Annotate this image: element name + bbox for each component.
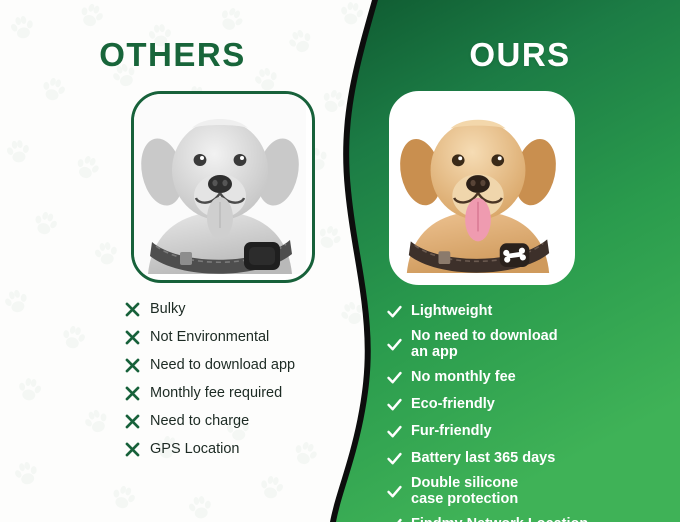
ours-dog-photo xyxy=(389,91,575,285)
list-item: No need to download an app xyxy=(386,326,646,362)
list-item-label: GPS Location xyxy=(150,441,239,458)
list-item-label: Double silicone case protection xyxy=(411,475,518,507)
list-item: Double silicone case protection xyxy=(386,473,646,509)
page-title-ours: OURS xyxy=(360,36,680,74)
check-icon xyxy=(386,450,403,467)
check-icon xyxy=(386,369,403,386)
color-golden-retriever-illustration xyxy=(393,95,563,273)
check-icon xyxy=(386,483,403,500)
comparison-infographic: OTHERS OURS xyxy=(0,0,695,522)
check-icon xyxy=(386,336,403,353)
list-item: Fur-friendly xyxy=(386,419,646,443)
list-item: Lightweight xyxy=(386,299,646,323)
others-feature-list: Bulky Not Environmental Need to download… xyxy=(124,296,349,464)
list-item-label: Need to download app xyxy=(150,357,295,374)
list-item-label: Lightweight xyxy=(411,303,492,319)
x-icon xyxy=(124,357,141,374)
x-icon xyxy=(124,329,141,346)
list-item-label: No monthly fee xyxy=(411,369,516,385)
list-item: Eco-friendly xyxy=(386,392,646,416)
others-dog-photo xyxy=(131,91,315,283)
list-item: Battery last 365 days xyxy=(386,446,646,470)
grayscale-golden-retriever-illustration xyxy=(134,94,306,274)
list-item-label: Not Environmental xyxy=(150,329,269,346)
page-title-others: OTHERS xyxy=(0,36,345,74)
list-item-label: Need to charge xyxy=(150,413,249,430)
list-item: Need to download app xyxy=(124,352,349,378)
list-item-label: Eco-friendly xyxy=(411,396,495,412)
x-icon xyxy=(124,413,141,430)
list-item: No monthly fee xyxy=(386,365,646,389)
list-item-label: No need to download an app xyxy=(411,328,558,360)
bone-shaped-tag xyxy=(500,243,530,267)
list-item-label: Findmy Network Location xyxy=(411,516,588,522)
list-item-label: Fur-friendly xyxy=(411,423,492,439)
list-item: Bulky xyxy=(124,296,349,322)
x-icon xyxy=(124,441,141,458)
list-item: Need to charge xyxy=(124,408,349,434)
check-icon xyxy=(386,423,403,440)
ours-feature-list: Lightweight No need to download an app N… xyxy=(386,299,646,522)
list-item-label: Battery last 365 days xyxy=(411,450,555,466)
list-item: Not Environmental xyxy=(124,324,349,350)
check-icon xyxy=(386,516,403,522)
list-item: GPS Location xyxy=(124,436,349,462)
x-icon xyxy=(124,385,141,402)
list-item-label: Monthly fee required xyxy=(150,385,282,402)
list-item: Findmy Network Location xyxy=(386,512,646,522)
list-item: Monthly fee required xyxy=(124,380,349,406)
check-icon xyxy=(386,396,403,413)
x-icon xyxy=(124,301,141,318)
check-icon xyxy=(386,303,403,320)
list-item-label: Bulky xyxy=(150,301,185,318)
